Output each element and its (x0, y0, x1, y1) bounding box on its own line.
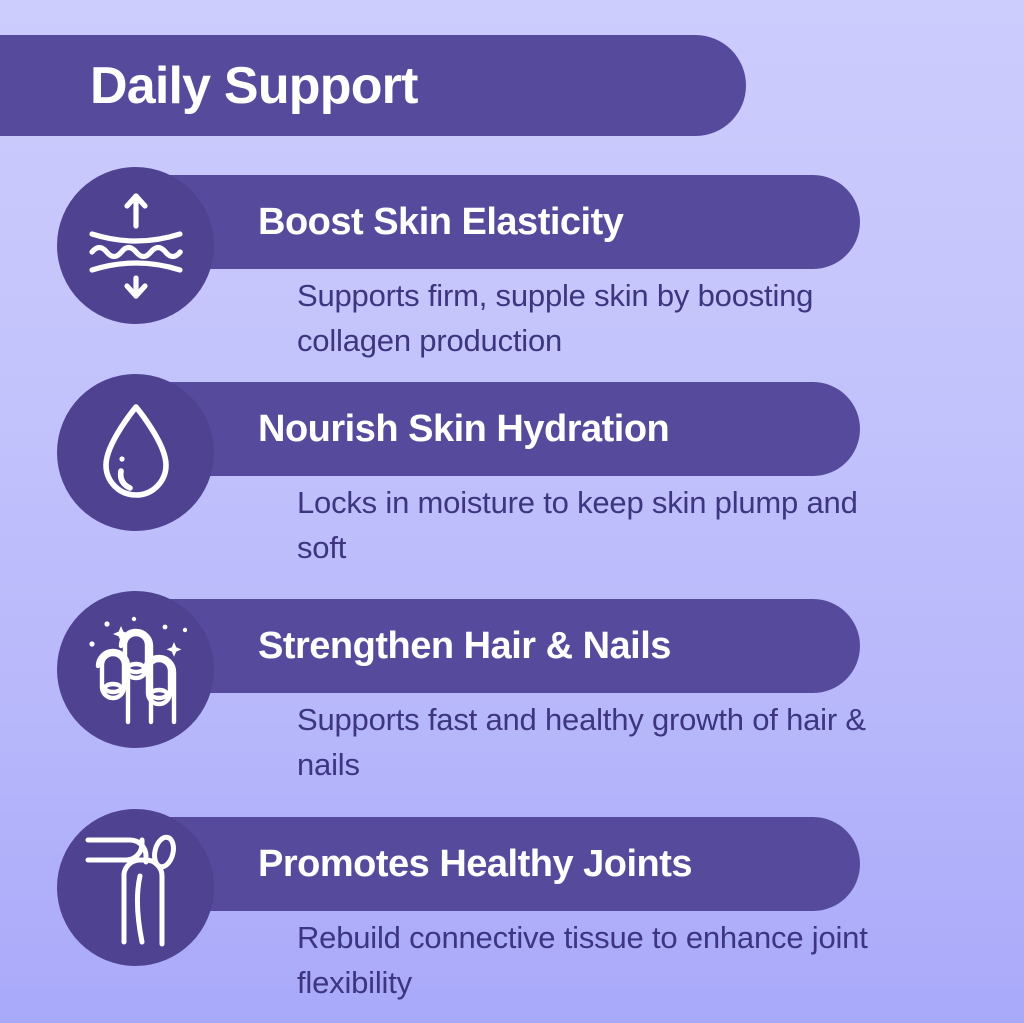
feature-row: Strengthen Hair & Nails Supports fast an… (0, 599, 1024, 817)
feature-icon-badge (57, 167, 214, 324)
knee-joint-bone-icon (84, 826, 188, 950)
feature-row: Nourish Skin Hydration Locks in moisture… (0, 382, 1024, 600)
feature-title: Nourish Skin Hydration (258, 382, 669, 476)
feature-description: Supports fast and healthy growth of hair… (297, 697, 897, 787)
feature-icon-badge (57, 809, 214, 966)
feature-description: Locks in moisture to keep skin plump and… (297, 480, 897, 570)
page-title: Daily Support (90, 60, 418, 112)
skin-elasticity-icon (83, 190, 189, 302)
feature-row: Promotes Healthy Joints Rebuild connecti… (0, 817, 1024, 1023)
nails-sparkle-icon (81, 612, 191, 728)
feature-icon-badge (57, 374, 214, 531)
feature-title: Promotes Healthy Joints (258, 817, 692, 911)
feature-icon-badge (57, 591, 214, 748)
header-banner: Daily Support (0, 35, 746, 136)
feature-description: Supports firm, supple skin by boosting c… (297, 273, 897, 363)
feature-row: Boost Skin Elasticity Supports firm, sup… (0, 175, 1024, 393)
water-droplet-icon (97, 401, 175, 505)
feature-description: Rebuild connective tissue to enhance joi… (297, 915, 897, 1005)
feature-title: Strengthen Hair & Nails (258, 599, 671, 693)
feature-title: Boost Skin Elasticity (258, 175, 623, 269)
